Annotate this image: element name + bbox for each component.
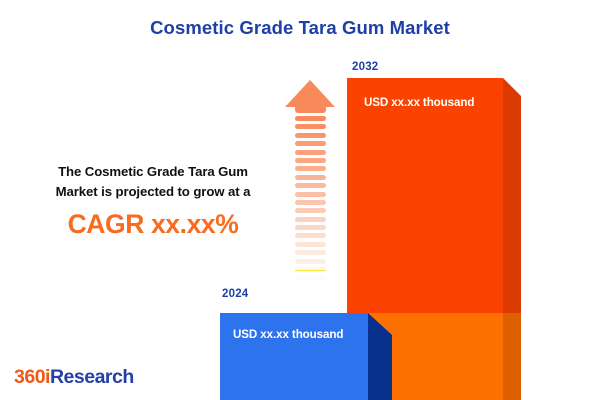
arrow-stripe <box>295 150 326 155</box>
bar-2032-side-top <box>503 78 521 313</box>
bar-value-2032: USD xx.xx thousand <box>364 96 474 109</box>
arrow-stripe <box>295 192 326 197</box>
arrow-stripe <box>295 275 326 280</box>
statement-line-1: The Cosmetic Grade Tara Gum <box>22 162 284 182</box>
arrow-stripe <box>295 175 326 180</box>
arrow-stripe <box>295 200 326 205</box>
arrow-stripe <box>295 116 326 121</box>
arrow-stripe <box>295 250 326 255</box>
brand-logo[interactable]: 360iResearch <box>14 366 134 389</box>
logo-research: Research <box>50 366 134 388</box>
bar-2024-front <box>220 313 368 400</box>
bar-label-2032: 2032 <box>352 61 378 73</box>
bar-value-2024: USD xx.xx thousand <box>233 328 343 341</box>
cagr-value: CAGR xx.xx% <box>22 209 284 239</box>
arrow-stripe <box>295 133 326 138</box>
arrow-stripe <box>295 208 326 213</box>
bar-label-2024: 2024 <box>222 288 248 300</box>
arrow-stripe <box>295 292 326 297</box>
statement-line-2: Market is projected to grow at a <box>22 182 284 202</box>
bar-2032-side-bottom <box>503 313 521 400</box>
arrow-stripe <box>295 141 326 146</box>
bar-2032-side <box>503 78 521 400</box>
arrow-stripes <box>295 116 326 305</box>
arrow-stripe <box>295 225 326 230</box>
arrow-highlight-line <box>295 270 326 271</box>
arrow-stripe <box>295 242 326 247</box>
arrow-stripe <box>295 284 326 289</box>
arrow-stripe <box>295 233 326 238</box>
arrow-stripe <box>295 166 326 171</box>
arrow-stripe <box>295 217 326 222</box>
statement-block: The Cosmetic Grade Tara Gum Market is pr… <box>22 162 284 239</box>
bar-2032-front <box>347 78 503 313</box>
arrow-stripe <box>295 183 326 188</box>
arrow-neck <box>295 106 326 113</box>
infographic-canvas: Cosmetic Grade Tara Gum Market The Cosme… <box>0 0 600 400</box>
growth-arrow-icon <box>285 80 336 305</box>
logo-360: 360 <box>14 366 45 388</box>
arrow-stripe <box>295 158 326 163</box>
arrow-stripe <box>295 259 326 264</box>
arrow-stripe <box>295 124 326 129</box>
arrow-head-icon <box>285 80 335 107</box>
page-title: Cosmetic Grade Tara Gum Market <box>0 17 600 39</box>
